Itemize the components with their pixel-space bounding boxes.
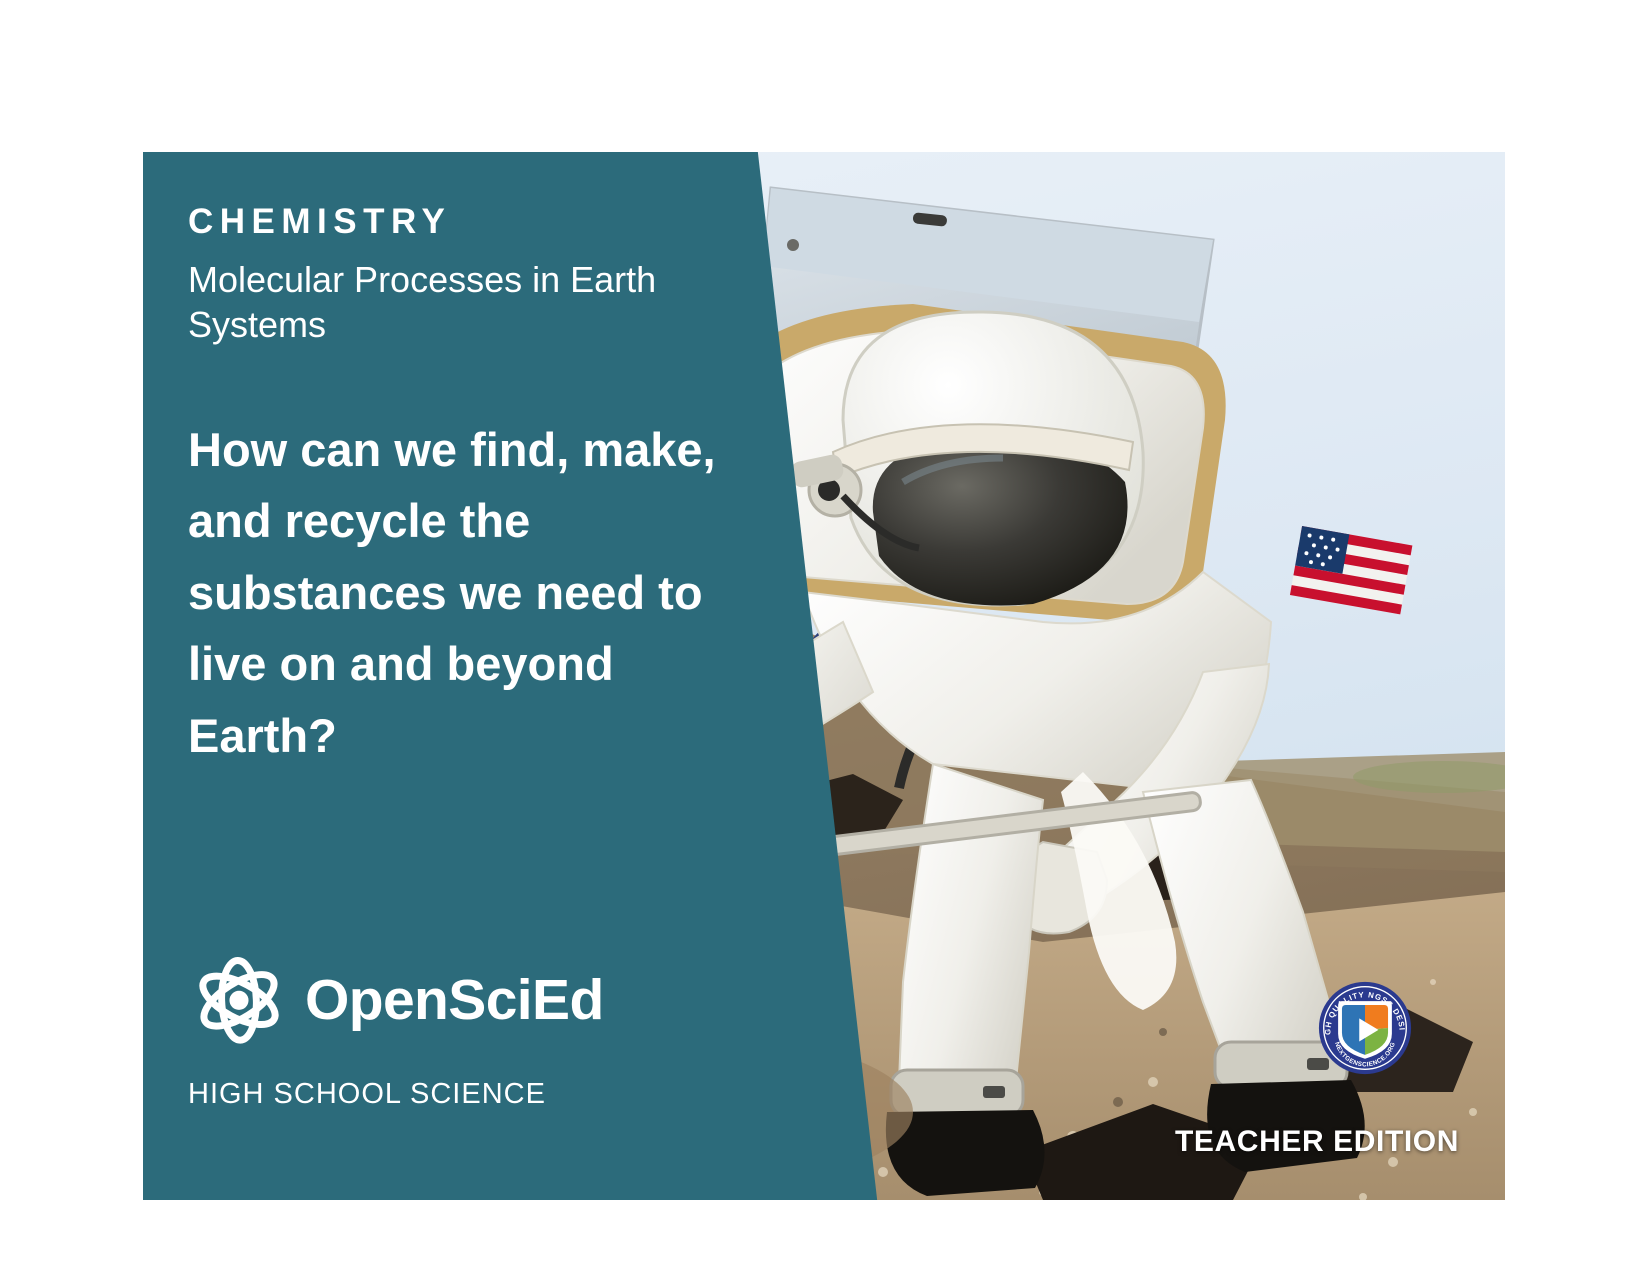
driving-question: How can we find, make, and recycle the s… — [188, 414, 718, 771]
unit-title: Molecular Processes in Earth Systems — [188, 257, 658, 348]
ngss-quality-badge: HIGH QUALITY NGSS DESIGN NEXTGENSCIENCE.… — [1317, 980, 1413, 1076]
cover-text-layer: CHEMISTRY Molecular Processes in Earth S… — [143, 152, 903, 1200]
subject-label: CHEMISTRY — [188, 204, 451, 239]
grade-band-label: HIGH SCHOOL SCIENCE — [188, 1078, 546, 1111]
opensci-ed-logo: OpenSciEd — [187, 957, 604, 1043]
unit-cover: NASA — [0, 0, 1650, 1275]
opensci-ed-wordmark: OpenSciEd — [305, 972, 604, 1029]
atom-icon — [187, 957, 291, 1043]
edition-label: TEACHER EDITION — [1175, 1125, 1459, 1159]
